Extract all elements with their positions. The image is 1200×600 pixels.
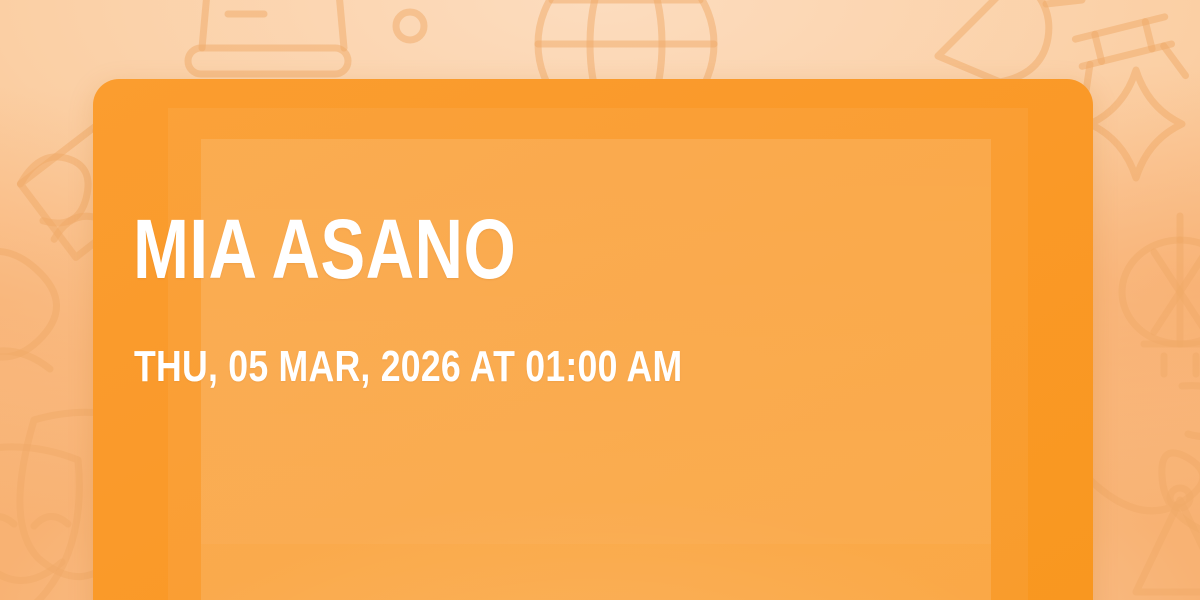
lantern-icon — [1122, 216, 1200, 374]
confetti-dot-icon — [396, 12, 424, 40]
event-datetime: THU, 05 MAR, 2026 AT 01:00 AM — [134, 345, 682, 389]
card-content: MIA ASANO THU, 05 MAR, 2026 AT 01:00 AM — [133, 79, 1053, 600]
party-hat-icon — [1136, 488, 1200, 592]
party-popper-icon — [938, 0, 1082, 82]
event-banner: MIA ASANO THU, 05 MAR, 2026 AT 01:00 AM — [0, 0, 1200, 600]
event-card[interactable]: MIA ASANO THU, 05 MAR, 2026 AT 01:00 AM — [93, 79, 1093, 600]
artist-name: MIA ASANO — [133, 207, 516, 291]
sparkle-icon — [1090, 70, 1182, 178]
streamer-icon — [0, 251, 57, 369]
turntable-icon — [188, 0, 348, 74]
